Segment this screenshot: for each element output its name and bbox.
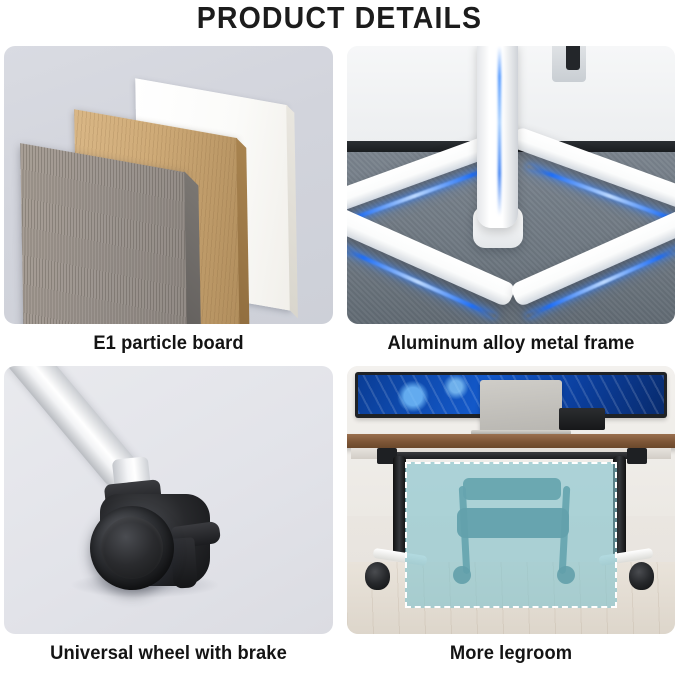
desk-crossbar (387, 452, 637, 459)
panel-e1-particle-board[interactable]: E1 particle board (4, 46, 333, 324)
desktop-surface (347, 434, 675, 448)
metal-frame-image (347, 46, 675, 324)
desk-caster-left (365, 562, 390, 590)
desk-caster-right (629, 562, 654, 590)
laptop-screen (480, 380, 562, 432)
board-stack-image (4, 46, 333, 324)
led-strip-column (498, 46, 501, 216)
frame-center-column (477, 46, 518, 228)
brake-stem (170, 537, 197, 589)
board-gray (20, 143, 189, 324)
caption-universal-wheel-with-brake: Universal wheel with brake (14, 642, 323, 665)
caster-wheel-image (4, 366, 333, 634)
legroom-image (347, 366, 675, 634)
page-title: PRODUCT DETAILS (27, 0, 652, 42)
panel-universal-wheel-with-brake[interactable]: Universal wheel with brake (4, 366, 333, 634)
legroom-highlight-area (405, 462, 617, 608)
caption-more-legroom: More legroom (357, 642, 665, 665)
panel-aluminum-alloy-metal-frame[interactable]: Aluminum alloy metal frame (347, 46, 675, 324)
caption-aluminum-alloy-metal-frame: Aluminum alloy metal frame (357, 332, 665, 355)
wheel-disc (90, 506, 174, 590)
caption-e1-particle-board: E1 particle board (14, 332, 323, 355)
product-details-grid: E1 particle board Aluminum alloy metal f… (0, 42, 679, 673)
keyboard (559, 408, 605, 430)
desk-bracket-right (627, 448, 647, 464)
monitor-stand (552, 46, 586, 82)
panel-more-legroom[interactable]: More legroom (347, 366, 675, 634)
